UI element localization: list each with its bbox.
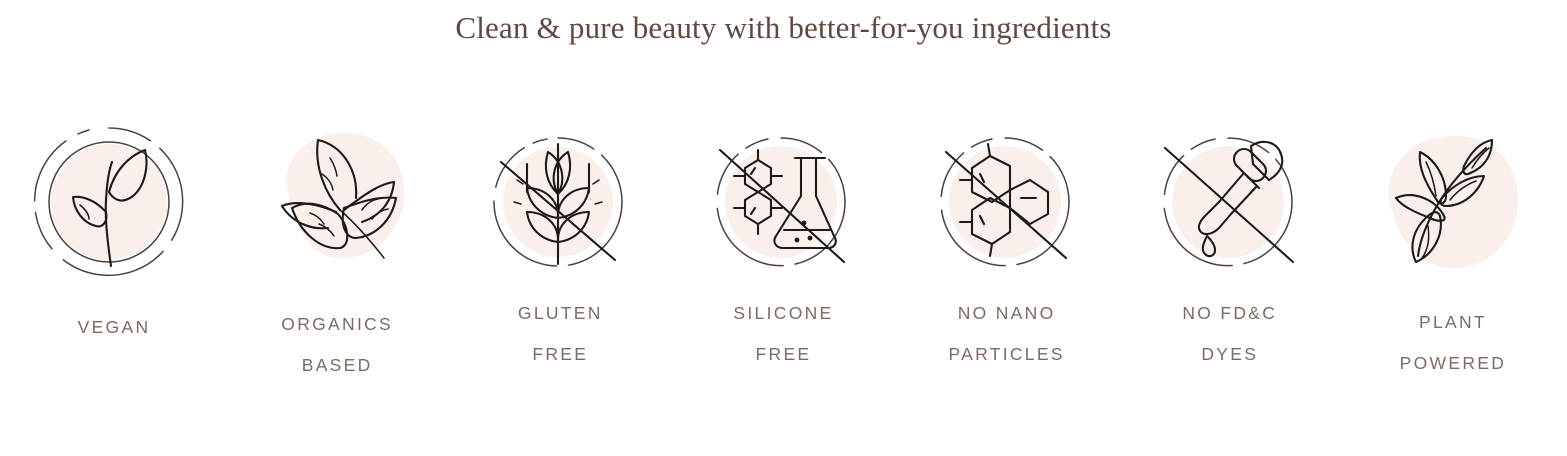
badge-label: ORGANICS BASED bbox=[281, 304, 393, 386]
leaf-branch-icon bbox=[1368, 118, 1538, 293]
badge-label: VEGAN bbox=[78, 307, 151, 348]
wheat-icon bbox=[475, 118, 645, 293]
flask-molecule-icon bbox=[698, 118, 868, 293]
badge-label: SILICONE FREE bbox=[733, 293, 833, 375]
badge-no-fdc-dyes[interactable]: NO FD&C DYES bbox=[1124, 118, 1336, 375]
badge-label: PLANT POWERED bbox=[1400, 302, 1507, 384]
leaf-cluster-icon bbox=[252, 118, 422, 293]
badge-label: NO NANO PARTICLES bbox=[948, 293, 1064, 375]
hexagon-molecule-icon bbox=[922, 118, 1092, 293]
sprout-icon bbox=[29, 118, 199, 293]
badge-vegan[interactable]: VEGAN bbox=[8, 118, 220, 348]
badge-label: NO FD&C DYES bbox=[1182, 293, 1277, 375]
badge-silicone-free[interactable]: SILICONE FREE bbox=[677, 118, 889, 375]
badge-organics-based[interactable]: ORGANICS BASED bbox=[231, 118, 443, 386]
ingredient-claims-banner: Clean & pure beauty with better-for-you … bbox=[0, 0, 1567, 456]
page-title: Clean & pure beauty with better-for-you … bbox=[0, 10, 1567, 46]
badge-plant-powered[interactable]: PLANT POWERED bbox=[1347, 118, 1559, 384]
badge-gluten-free[interactable]: GLUTEN FREE bbox=[454, 118, 666, 375]
badge-row: VEGAN bbox=[0, 118, 1567, 418]
badge-no-nano-particles[interactable]: NO NANO PARTICLES bbox=[901, 118, 1113, 375]
dropper-icon bbox=[1145, 118, 1315, 293]
badge-label: GLUTEN FREE bbox=[518, 293, 603, 375]
